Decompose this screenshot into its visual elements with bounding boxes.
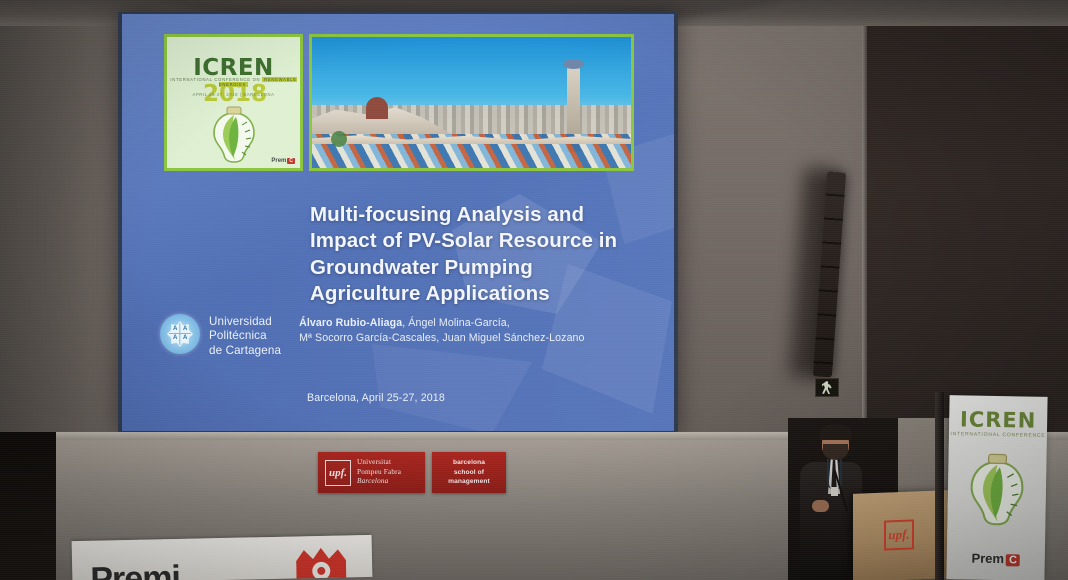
seal-letter: A [173,335,177,341]
university-line-3: de Cartagena [209,344,281,358]
seal-letter: A [183,335,187,341]
author-line-2: Mª Socorro García-Cascales, Juan Miguel … [299,331,584,346]
icren-logo-card: ICREN2018 INTERNATIONAL CONFERENCE ON RE… [164,34,303,171]
rollup-prem-text: Prem [971,551,1004,567]
bottom-banner-text: Premi [90,559,180,580]
bsm-name: barcelona school of management [448,458,490,486]
barcelona-park-guell-photo [309,34,634,171]
lightbulb-leaf-icon [208,105,260,165]
barcelona-school-of-management-logo: barcelona school of management [432,452,506,493]
prem-letter: C [287,158,295,164]
red-crown-circle-icon [296,547,347,580]
conference-hall-photo: ICREN2018 INTERNATIONAL CONFERENCE ON RE… [0,0,1068,580]
presenter-badge [831,487,838,496]
bsm-line-3: management [448,477,490,486]
upf-line-2: Pompeu Fabra [357,468,401,478]
university-name: Universidad Politécnica de Cartagena [209,314,281,358]
upf-name: Universitat Pompeu Fabra Barcelona [357,458,401,487]
bsm-line-2: school of [448,468,490,477]
title-line-4: Agriculture Applications [310,281,660,307]
bsm-line-1: barcelona [448,458,490,467]
venue-date-line: Barcelona, April 25-27, 2018 [307,392,445,404]
podium-upf-logo: upf. [884,519,914,550]
author-line-1: Álvaro Rubio-Aliaga, Ángel Molina-García… [299,316,584,331]
presenter-hair [820,424,851,440]
prem-text: Prem [271,158,286,164]
gaudi-dome [366,97,388,119]
rollup-title: ICREN [949,407,1047,433]
slide-header-banner: ICREN2018 INTERNATIONAL CONFERENCE ON RE… [164,34,634,171]
icren-subtitle: INTERNATIONAL CONFERENCE ON RENEWABLE EN… [167,77,300,87]
wall-seam [862,0,867,440]
icren-rollup-banner: ICREN INTERNATIONAL CONFERENCE PremC [946,395,1047,580]
university-line-2: Politécnica [209,329,281,343]
affiliation-and-authors: A A A A Universidad Politécnica de Carta… [160,314,660,358]
lead-author: Álvaro Rubio-Aliaga [299,317,402,329]
presenter-beard [823,444,848,460]
upf-logo: upf. Universitat Pompeu Fabra Barcelona [318,452,425,493]
rollup-prem-letter: C [1006,554,1020,566]
left-wall [0,14,128,434]
seal-letter: A [183,326,187,332]
seal-letter: A [173,326,177,332]
upct-seal-icon: A A A A [160,314,200,354]
bottom-left-banner: Premi [72,535,373,580]
coauthors-inline: , Ángel Molina-García, [402,317,510,329]
projected-slide: ICREN2018 INTERNATIONAL CONFERENCE ON RE… [122,14,674,431]
running-person-glyph [822,381,833,394]
rollup-banner-pole [935,392,944,580]
icren-date-line: APRIL 25-27, 2018 | BARCELONA [167,92,300,97]
upf-monogram: upf. [325,460,351,486]
author-list: Álvaro Rubio-Aliaga, Ángel Molina-García… [299,314,584,346]
slide-title: Multi-focusing Analysis and Impact of PV… [310,202,660,308]
rollup-subtitle: INTERNATIONAL CONFERENCE [949,431,1047,439]
upf-line-1: Universitat [357,458,401,468]
presenter-hand [812,500,829,512]
prem-c-badge: PremC [271,158,295,164]
right-dark-wall [866,0,1068,440]
title-line-3: Groundwater Pumping [310,255,660,281]
university-line-1: Universidad [209,315,281,329]
title-line-1: Multi-focusing Analysis and [310,202,660,228]
stage-left-shadow [0,432,56,580]
emergency-exit-icon [815,378,839,397]
sponsor-logo-row: upf. Universitat Pompeu Fabra Barcelona … [318,452,506,493]
rollup-prem-badge: PremC [947,550,1045,567]
title-line-2: Impact of PV-Solar Resource in [310,228,660,254]
upf-line-3: Barcelona [357,477,401,487]
lightbulb-leaf-icon [963,447,1030,532]
